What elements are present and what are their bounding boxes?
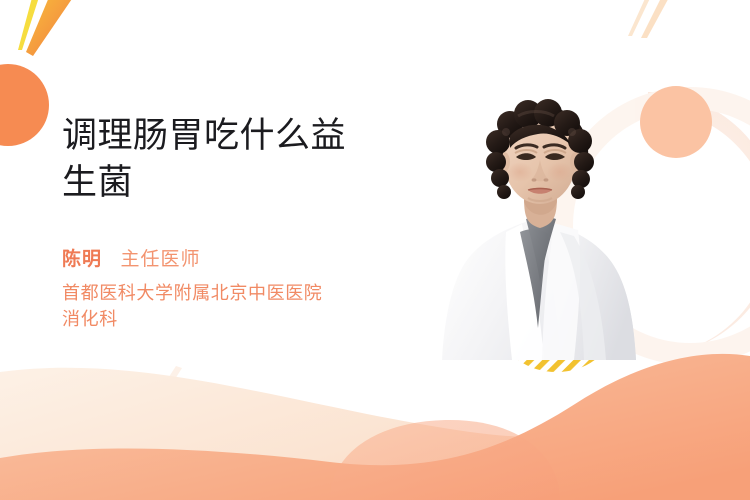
text-content: 调理肠胃吃什么益 生菌 陈明 主任医师 首都医科大学附属北京中医医院 消化科 [62, 112, 407, 332]
lab-coat [442, 217, 636, 360]
orange-circle-decoration [0, 64, 49, 146]
doctor-portrait [440, 92, 640, 360]
doctor-rank: 主任医师 [120, 249, 200, 270]
page-title: 调理肠胃吃什么益 生菌 [62, 112, 407, 206]
stripe-decoration-top-right [628, 0, 672, 38]
stripe-decoration-top-left [14, 0, 83, 56]
doctor-affiliation: 首都医科大学附属北京中医医院 消化科 [62, 280, 407, 332]
doctor-identity: 陈明 主任医师 [62, 244, 407, 271]
peach-circle-decoration [640, 86, 712, 158]
doctor-info-card: 调理肠胃吃什么益 生菌 陈明 主任医师 首都医科大学附属北京中医医院 消化科 [0, 0, 750, 500]
doctor-name: 陈明 [62, 249, 102, 270]
